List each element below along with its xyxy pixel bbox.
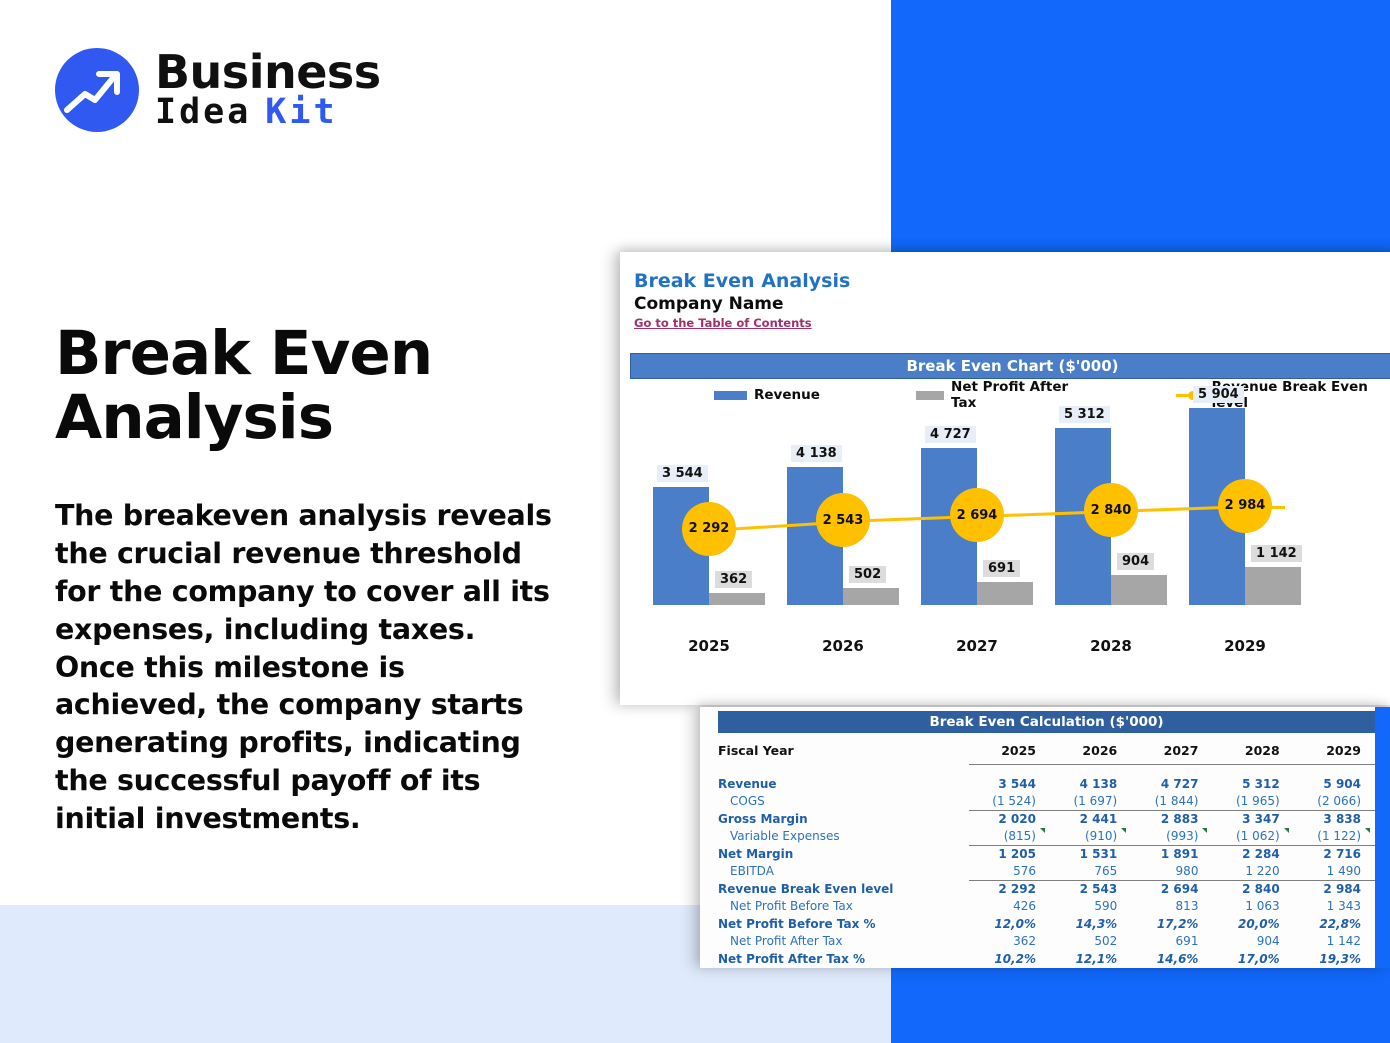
table-cell: 2 543 bbox=[1050, 880, 1131, 898]
table-cell: (1 965) bbox=[1212, 793, 1293, 811]
break-even-marker: 2 840 bbox=[1084, 483, 1138, 537]
table-cell: 980 bbox=[1131, 863, 1212, 881]
table-cell: 2 020 bbox=[969, 810, 1050, 828]
column-header-year: 2029 bbox=[1294, 737, 1375, 764]
x-axis-label: 2029 bbox=[1177, 637, 1313, 655]
page-description: The breakeven analysis reveals the cruci… bbox=[55, 497, 555, 838]
table-cell: 904 bbox=[1212, 933, 1293, 951]
column-header-year: 2028 bbox=[1212, 737, 1293, 764]
table-cell: 502 bbox=[1050, 933, 1131, 951]
legend-label: Net Profit After Tax bbox=[951, 379, 1076, 411]
legend-item-revenue[interactable]: Revenue bbox=[714, 387, 820, 403]
table-cell: 1 205 bbox=[969, 845, 1050, 863]
table-cell: 1 220 bbox=[1212, 863, 1293, 881]
table-cell: 2 984 bbox=[1294, 880, 1375, 898]
table-cell: 4 727 bbox=[1131, 775, 1212, 793]
x-axis-label: 2027 bbox=[909, 637, 1045, 655]
table-row: Revenue3 5444 1384 7275 3125 904 bbox=[718, 775, 1375, 793]
row-label: Net Profit After Tax % bbox=[718, 950, 969, 968]
chart-title-banner: Break Even Chart ($'000) bbox=[630, 353, 1390, 379]
table-cell: (2 066) bbox=[1294, 793, 1375, 811]
calculation-table-panel: Break Even Calculation ($'000) Fiscal Ye… bbox=[700, 707, 1390, 968]
table-cell: 2 840 bbox=[1212, 880, 1293, 898]
table-cell: (1 062) bbox=[1212, 828, 1293, 846]
table-cell: 5 312 bbox=[1212, 775, 1293, 793]
table-row: Variable Expenses(815)(910)(993)(1 062)(… bbox=[718, 828, 1375, 846]
row-label: Net Margin bbox=[718, 845, 969, 863]
table-cell: (815) bbox=[969, 828, 1050, 846]
bar-net-profit-after-tax bbox=[709, 593, 765, 605]
table-cell: 2 441 bbox=[1050, 810, 1131, 828]
table-cell: 14,6% bbox=[1131, 950, 1212, 968]
table-row: Net Profit Before Tax %12,0%14,3%17,2%20… bbox=[718, 915, 1375, 933]
table-cell: 3 347 bbox=[1212, 810, 1293, 828]
chart-plot-area: 3 54436220254 13850220264 72769120275 31… bbox=[620, 412, 1390, 705]
legend-item-net-profit-after-tax[interactable]: Net Profit After Tax bbox=[916, 379, 1077, 411]
data-label-net-profit-after-tax: 362 bbox=[715, 571, 752, 588]
chart-legend: Revenue Net Profit After Tax Revenue Bre… bbox=[700, 384, 1380, 406]
table-cell: 3 838 bbox=[1294, 810, 1375, 828]
table-cell: 590 bbox=[1050, 898, 1131, 916]
table-cell: 10,2% bbox=[969, 950, 1050, 968]
table-cell: 1 142 bbox=[1294, 933, 1375, 951]
brand-name-tertiary: Kit bbox=[265, 96, 337, 129]
column-header-fiscal-year: Fiscal Year bbox=[718, 737, 969, 764]
table-cell: 17,2% bbox=[1131, 915, 1212, 933]
sheet-title: Break Even Analysis bbox=[634, 270, 850, 292]
table-cell: 691 bbox=[1131, 933, 1212, 951]
row-label: Net Profit Before Tax bbox=[718, 898, 969, 916]
table-spacer-row bbox=[718, 764, 1375, 775]
table-cell: 1 063 bbox=[1212, 898, 1293, 916]
table-cell: 426 bbox=[969, 898, 1050, 916]
growth-arrow-icon bbox=[55, 48, 139, 132]
table-cell: 813 bbox=[1131, 898, 1212, 916]
data-label-net-profit-after-tax: 691 bbox=[983, 560, 1020, 577]
data-label-net-profit-after-tax: 502 bbox=[849, 566, 886, 583]
data-label-revenue: 5 904 bbox=[1193, 386, 1244, 403]
brand-name-primary: Business bbox=[155, 51, 381, 95]
comment-marker-icon: (1 062) bbox=[1236, 829, 1280, 843]
break-even-marker: 2 292 bbox=[682, 502, 736, 556]
table-of-contents-link[interactable]: Go to the Table of Contents bbox=[634, 316, 812, 330]
table-cell: 22,8% bbox=[1294, 915, 1375, 933]
x-axis-label: 2025 bbox=[641, 637, 777, 655]
break-even-marker: 2 543 bbox=[816, 493, 870, 547]
table-row: Net Profit After Tax %10,2%12,1%14,6%17,… bbox=[718, 950, 1375, 968]
comment-marker-icon: (815) bbox=[1004, 829, 1036, 843]
data-label-net-profit-after-tax: 904 bbox=[1117, 553, 1154, 570]
table-cell: 14,3% bbox=[1050, 915, 1131, 933]
table-cell: 1 531 bbox=[1050, 845, 1131, 863]
data-label-revenue: 4 138 bbox=[791, 445, 842, 462]
x-axis-label: 2026 bbox=[775, 637, 911, 655]
legend-swatch-icon bbox=[916, 391, 944, 400]
brand-name-secondary: Idea bbox=[155, 96, 251, 129]
table-header-row: Fiscal Year20252026202720282029 bbox=[718, 737, 1375, 764]
bar-net-profit-after-tax bbox=[1111, 575, 1167, 605]
table-cell: 2 694 bbox=[1131, 880, 1212, 898]
row-label: EBITDA bbox=[718, 863, 969, 881]
comment-marker-icon: (993) bbox=[1166, 829, 1198, 843]
page-title: Break Even Analysis bbox=[55, 322, 555, 450]
row-label: Gross Margin bbox=[718, 810, 969, 828]
table-cell: 2 284 bbox=[1212, 845, 1293, 863]
brand-logo[interactable]: Business Idea Kit bbox=[55, 48, 381, 132]
table-cell: (993) bbox=[1131, 828, 1212, 846]
table-cell: 20,0% bbox=[1212, 915, 1293, 933]
table-row: Net Profit After Tax3625026919041 142 bbox=[718, 933, 1375, 951]
table-cell: 1 343 bbox=[1294, 898, 1375, 916]
data-label-revenue: 5 312 bbox=[1059, 406, 1110, 423]
table-cell: 19,3% bbox=[1294, 950, 1375, 968]
table-cell: (1 844) bbox=[1131, 793, 1212, 811]
table-cell: 1 490 bbox=[1294, 863, 1375, 881]
table-cell: 12,0% bbox=[969, 915, 1050, 933]
table-row: EBITDA5767659801 2201 490 bbox=[718, 863, 1375, 881]
table-cell: 2 883 bbox=[1131, 810, 1212, 828]
legend-label: Revenue bbox=[754, 387, 820, 403]
break-even-marker: 2 984 bbox=[1218, 479, 1272, 533]
bar-net-profit-after-tax bbox=[1245, 567, 1301, 605]
table-row: COGS(1 524)(1 697)(1 844)(1 965)(2 066) bbox=[718, 793, 1375, 811]
table-cell: 2 716 bbox=[1294, 845, 1375, 863]
table-cell: (1 122) bbox=[1294, 828, 1375, 846]
comment-marker-icon: (1 122) bbox=[1317, 829, 1361, 843]
data-label-revenue: 3 544 bbox=[657, 465, 708, 482]
table-cell: 4 138 bbox=[1050, 775, 1131, 793]
table-row: Net Margin1 2051 5311 8912 2842 716 bbox=[718, 845, 1375, 863]
break-even-marker: 2 694 bbox=[950, 488, 1004, 542]
table-cell: 765 bbox=[1050, 863, 1131, 881]
table-cell: 3 544 bbox=[969, 775, 1050, 793]
slide-canvas: Business Idea Kit Break Even Analysis Th… bbox=[0, 0, 1390, 1043]
row-label: Revenue bbox=[718, 775, 969, 793]
bar-net-profit-after-tax bbox=[843, 588, 899, 605]
table-row: Gross Margin2 0202 4412 8833 3473 838 bbox=[718, 810, 1375, 828]
column-header-year: 2027 bbox=[1131, 737, 1212, 764]
break-even-calculation-table: Fiscal Year20252026202720282029Revenue3 … bbox=[718, 737, 1375, 968]
column-header-year: 2026 bbox=[1050, 737, 1131, 764]
decor-strip-right bbox=[1375, 707, 1390, 968]
table-cell: (910) bbox=[1050, 828, 1131, 846]
table-cell: (1 524) bbox=[969, 793, 1050, 811]
table-cell: 12,1% bbox=[1050, 950, 1131, 968]
row-label: Net Profit After Tax bbox=[718, 933, 969, 951]
bar-net-profit-after-tax bbox=[977, 582, 1033, 605]
x-axis-label: 2028 bbox=[1043, 637, 1179, 655]
chart-panel: Break Even Analysis Company Name Go to t… bbox=[620, 252, 1390, 705]
data-label-net-profit-after-tax: 1 142 bbox=[1251, 545, 1302, 562]
decor-block-top-right bbox=[891, 0, 1390, 252]
legend-swatch-icon bbox=[714, 391, 747, 400]
table-cell: (1 697) bbox=[1050, 793, 1131, 811]
row-label: COGS bbox=[718, 793, 969, 811]
table-cell: 1 891 bbox=[1131, 845, 1212, 863]
table-cell: 17,0% bbox=[1212, 950, 1293, 968]
row-label: Net Profit Before Tax % bbox=[718, 915, 969, 933]
table-title-banner: Break Even Calculation ($'000) bbox=[718, 711, 1375, 733]
table-cell: 362 bbox=[969, 933, 1050, 951]
row-label: Variable Expenses bbox=[718, 828, 969, 846]
row-label: Revenue Break Even level bbox=[718, 880, 969, 898]
table-row: Net Profit Before Tax4265908131 0631 343 bbox=[718, 898, 1375, 916]
table-cell: 576 bbox=[969, 863, 1050, 881]
sheet-company-name: Company Name bbox=[634, 294, 784, 314]
data-label-revenue: 4 727 bbox=[925, 426, 976, 443]
table-cell: 5 904 bbox=[1294, 775, 1375, 793]
column-header-year: 2025 bbox=[969, 737, 1050, 764]
table-row: Revenue Break Even level2 2922 5432 6942… bbox=[718, 880, 1375, 898]
comment-marker-icon: (910) bbox=[1085, 829, 1117, 843]
table-cell: 2 292 bbox=[969, 880, 1050, 898]
